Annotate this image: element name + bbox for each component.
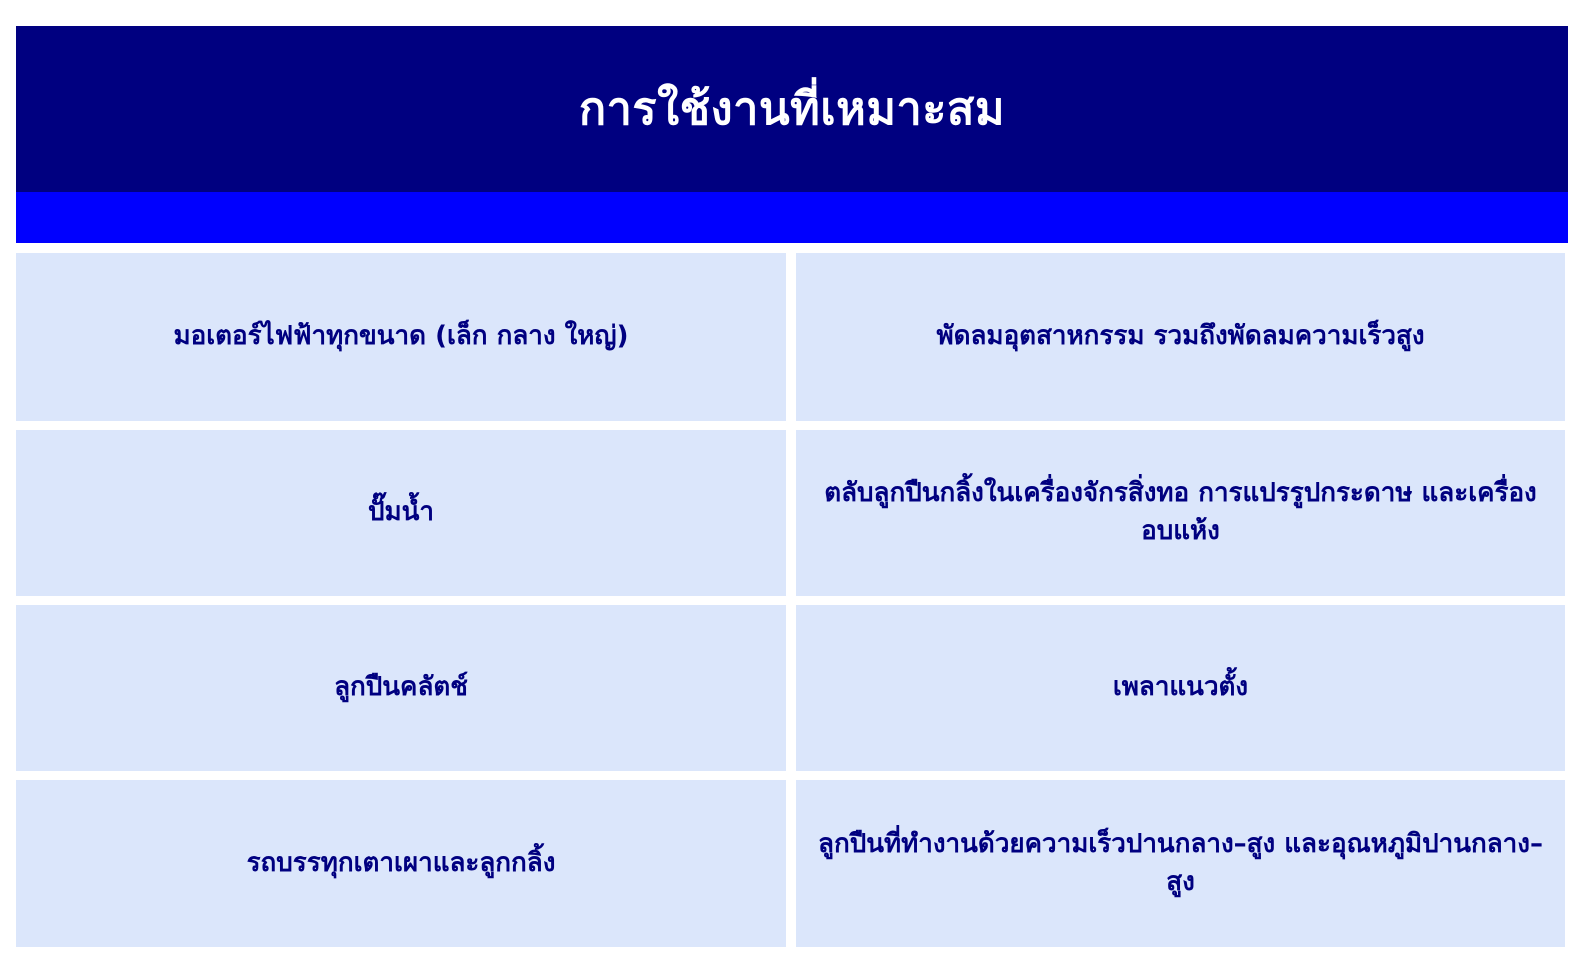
cell-label: ลูกปืนที่ทำงานด้วยความเร็วปานกลาง–สูง แล…: [814, 826, 1547, 901]
table-cell-right: เพลาแนวตั้ง: [796, 605, 1565, 771]
page-title: การใช้งานที่เหมาะสม: [579, 81, 1005, 137]
table-cell-right: ตลับลูกปืนกลิ้งในเครื่องจักรสิ่งทอ การแป…: [796, 430, 1565, 596]
cell-label: ตลับลูกปืนกลิ้งในเครื่องจักรสิ่งทอ การแป…: [814, 475, 1547, 550]
slide-root: การใช้งานที่เหมาะสม มอเตอร์ไฟฟ้าทุกขนาด …: [0, 0, 1583, 971]
cell-label: พัดลมอุตสาหกรรม รวมถึงพัดลมความเร็วสูง: [936, 318, 1424, 356]
header-accent-bar: [16, 192, 1568, 243]
header-banner: การใช้งานที่เหมาะสม: [16, 26, 1568, 192]
table-cell-left: ลูกปืนคลัตช์: [16, 605, 786, 771]
table-row: ลูกปืนคลัตช์ เพลาแนวตั้ง: [16, 605, 1565, 771]
table-cell-left: ปั๊มน้ำ: [16, 430, 786, 596]
cell-label: ลูกปืนคลัตช์: [334, 669, 468, 707]
cell-label: มอเตอร์ไฟฟ้าทุกขนาด (เล็ก กลาง ใหญ่): [174, 318, 629, 356]
cell-label: เพลาแนวตั้ง: [1113, 669, 1248, 707]
table-row: มอเตอร์ไฟฟ้าทุกขนาด (เล็ก กลาง ใหญ่) พัด…: [16, 253, 1565, 421]
table-cell-right: ลูกปืนที่ทำงานด้วยความเร็วปานกลาง–สูง แล…: [796, 780, 1565, 947]
cell-label: รถบรรทุกเตาเผาและลูกกลิ้ง: [247, 845, 556, 883]
table-row: รถบรรทุกเตาเผาและลูกกลิ้ง ลูกปืนที่ทำงาน…: [16, 780, 1565, 947]
usage-table: มอเตอร์ไฟฟ้าทุกขนาด (เล็ก กลาง ใหญ่) พัด…: [16, 253, 1565, 947]
table-row: ปั๊มน้ำ ตลับลูกปืนกลิ้งในเครื่องจักรสิ่ง…: [16, 430, 1565, 596]
table-cell-right: พัดลมอุตสาหกรรม รวมถึงพัดลมความเร็วสูง: [796, 253, 1565, 421]
cell-label: ปั๊มน้ำ: [368, 494, 434, 532]
table-cell-left: มอเตอร์ไฟฟ้าทุกขนาด (เล็ก กลาง ใหญ่): [16, 253, 786, 421]
table-cell-left: รถบรรทุกเตาเผาและลูกกลิ้ง: [16, 780, 786, 947]
header-block: การใช้งานที่เหมาะสม: [16, 26, 1568, 243]
